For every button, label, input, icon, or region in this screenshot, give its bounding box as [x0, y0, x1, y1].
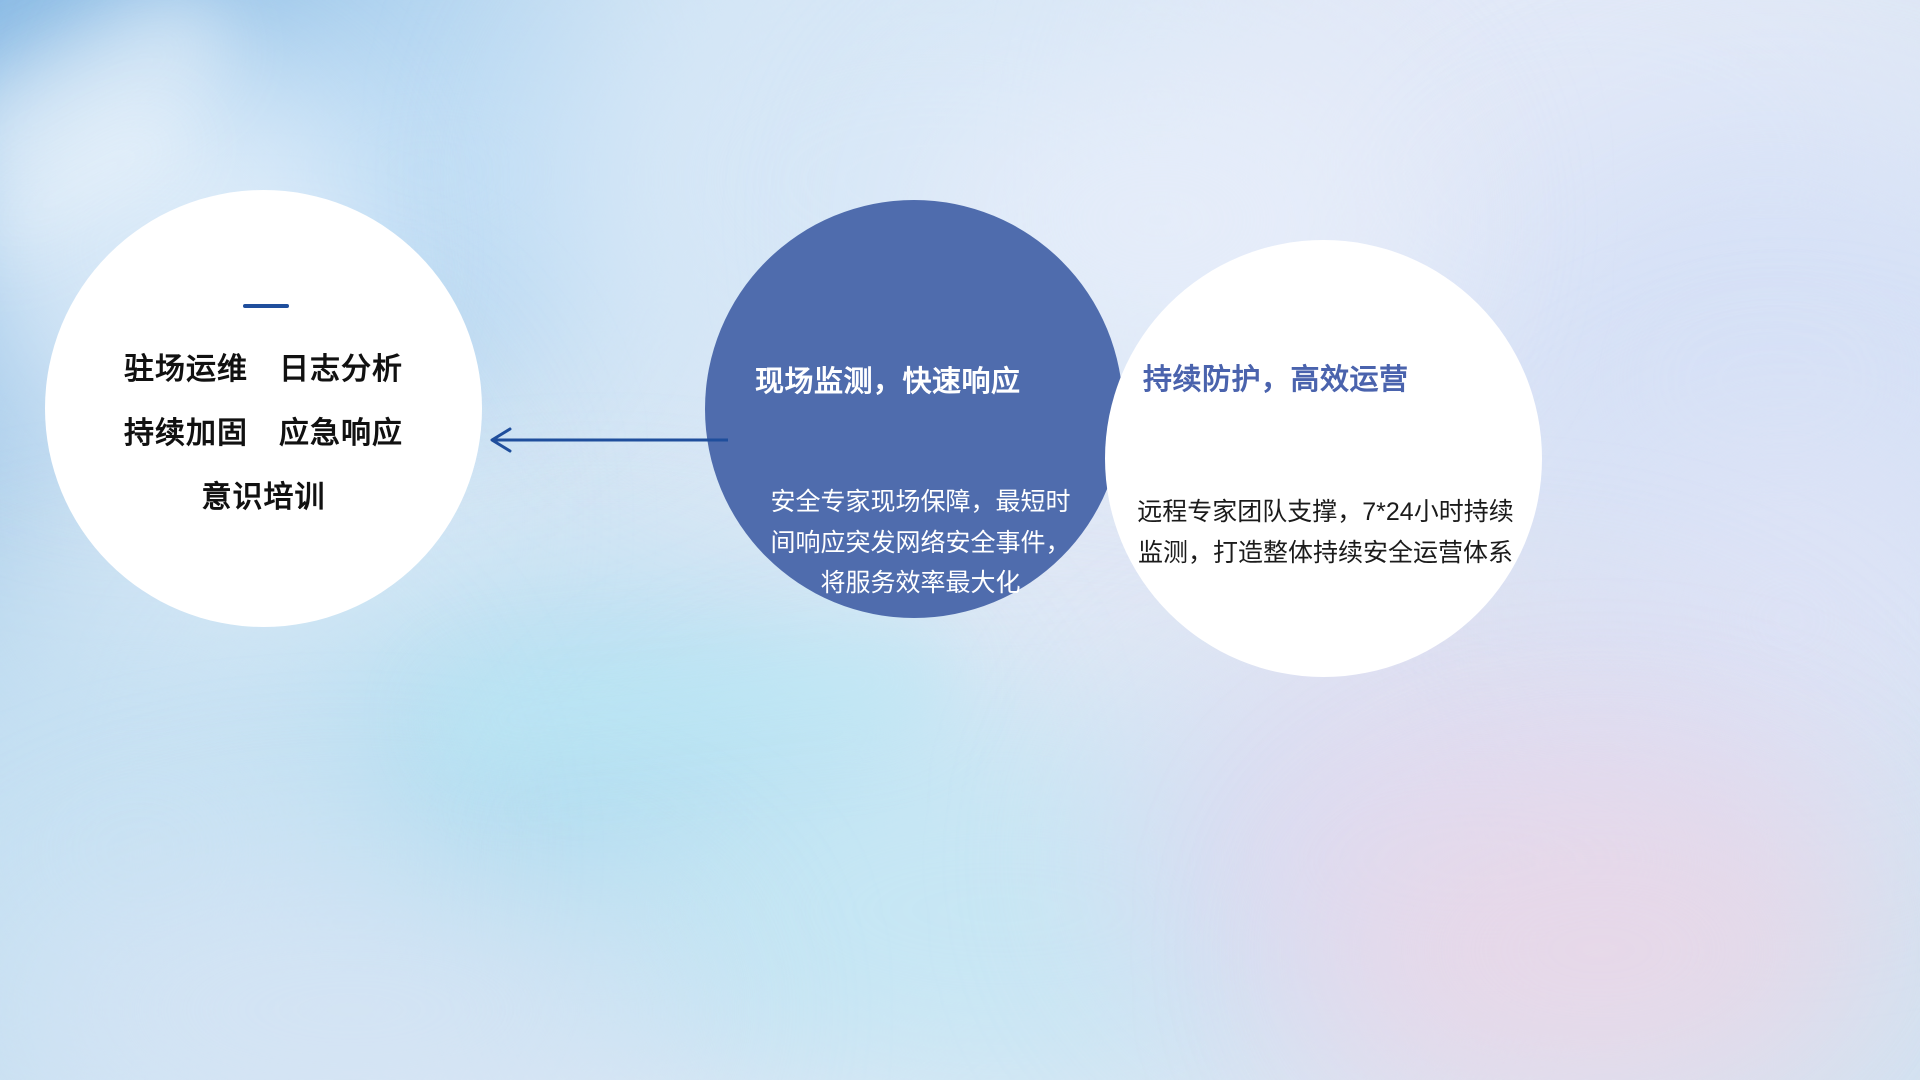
connector-arrow-icon — [480, 405, 730, 475]
left-circle-line-1: 驻场运维 日志分析 — [124, 355, 403, 385]
left-circle-card[interactable]: 驻场运维 日志分析 持续加固 应急响应 意识培训 — [45, 190, 482, 627]
right-circle-card[interactable] — [1105, 240, 1542, 677]
right-circle-title: 持续防护，高效运营 — [1143, 356, 1493, 398]
middle-circle-title: 现场监测，快速响应 — [755, 358, 1085, 400]
left-circle-line-2: 持续加固 应急响应 — [124, 419, 403, 449]
divider-dash-icon — [243, 304, 289, 308]
right-circle-body: 远程专家团队支撑，7*24小时持续监测，打造整体持续安全运营体系 — [1128, 492, 1523, 573]
middle-circle-body: 安全专家现场保障，最短时间响应突发网络安全事件，将服务效率最大化 — [768, 482, 1073, 604]
left-circle-line-3: 意识培训 — [202, 483, 326, 513]
